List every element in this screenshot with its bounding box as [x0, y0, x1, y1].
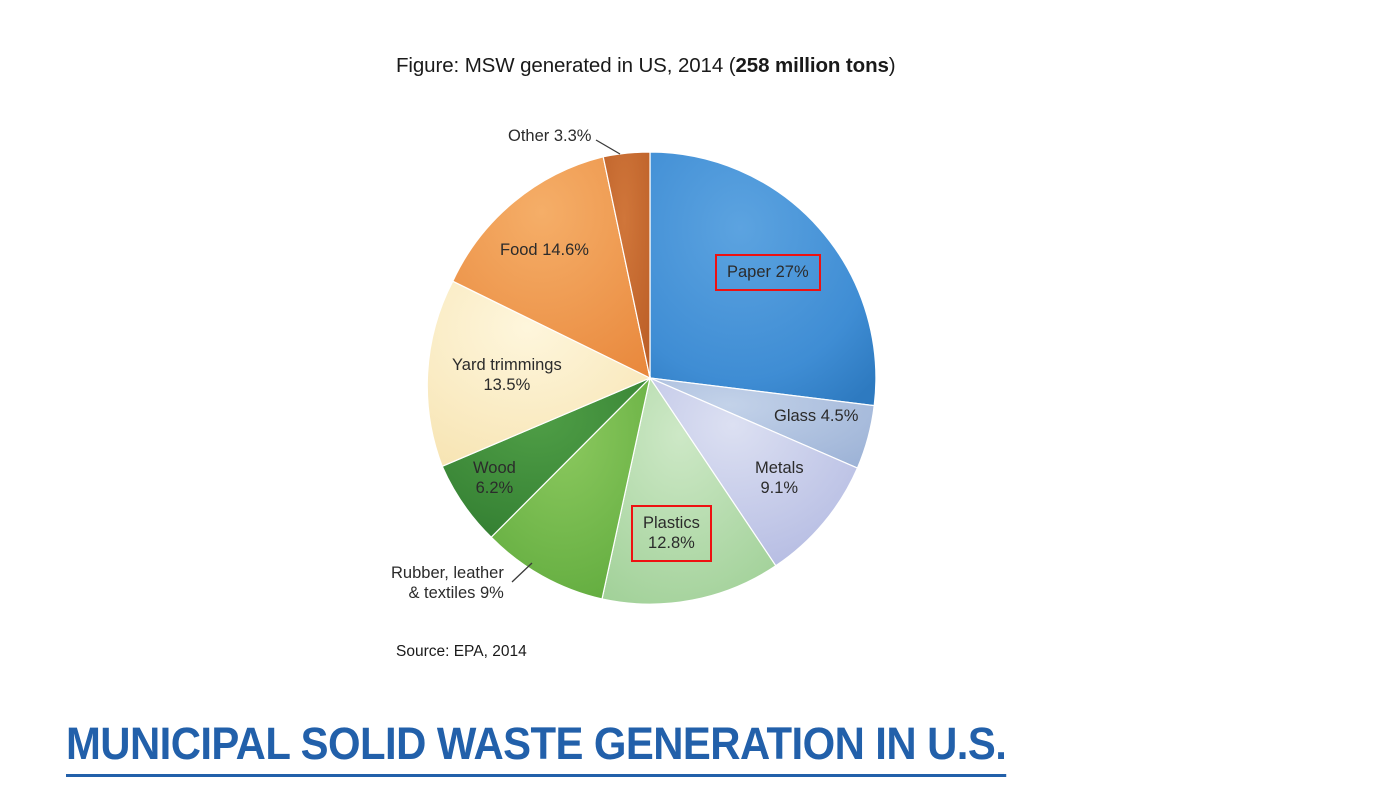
- pie-label-plastics-line2: 12.8%: [643, 533, 700, 553]
- pie-label-food: Food 14.6%: [500, 240, 589, 260]
- pie-label-paper-highlighted: Paper 27%: [715, 254, 821, 291]
- pie-label-rubber-line1: Rubber, leather: [391, 563, 504, 583]
- pie-label-plastics-line1: Plastics: [643, 513, 700, 533]
- pie-label-glass-text: Glass 4.5%: [774, 407, 858, 425]
- pie-label-yard-line2: 13.5%: [452, 375, 562, 395]
- pie-label-paper-text: Paper 27%: [727, 263, 809, 281]
- pie-label-metals: Metals 9.1%: [755, 458, 804, 498]
- pie-label-wood-line1: Wood: [473, 458, 516, 478]
- figure-caption-suffix: ): [889, 54, 896, 77]
- pie-label-food-text: Food 14.6%: [500, 241, 589, 259]
- pie-chart: Other 3.3% Food 14.6% Yard trimmings 13.…: [380, 120, 920, 640]
- pie-label-other-text: Other 3.3%: [508, 127, 591, 145]
- pie-label-plastics-highlighted: Plastics 12.8%: [631, 505, 712, 562]
- pie-label-glass: Glass 4.5%: [774, 406, 858, 426]
- figure-caption-total: 258 million tons: [735, 54, 888, 77]
- pie-label-metals-line1: Metals: [755, 458, 804, 478]
- figure-caption-prefix: Figure: MSW generated in US, 2014 (: [396, 54, 735, 77]
- pie-label-yard-line1: Yard trimmings: [452, 355, 562, 375]
- pie-label-rubber-leather-textiles: Rubber, leather & textiles 9%: [391, 563, 504, 603]
- pie-label-other: Other 3.3%: [508, 126, 591, 146]
- pie-label-yard-trimmings: Yard trimmings 13.5%: [452, 355, 562, 395]
- pie-label-rubber-line2: & textiles 9%: [391, 583, 504, 603]
- figure-caption: Figure: MSW generated in US, 2014 (258 m…: [396, 54, 896, 78]
- pie-label-metals-line2: 9.1%: [755, 478, 804, 498]
- pie-label-wood: Wood 6.2%: [473, 458, 516, 498]
- source-note: Source: EPA, 2014: [396, 643, 527, 661]
- pie-label-wood-line2: 6.2%: [473, 478, 516, 498]
- page-title: MUNICIPAL SOLID WASTE GENERATION IN U.S.: [66, 718, 1006, 777]
